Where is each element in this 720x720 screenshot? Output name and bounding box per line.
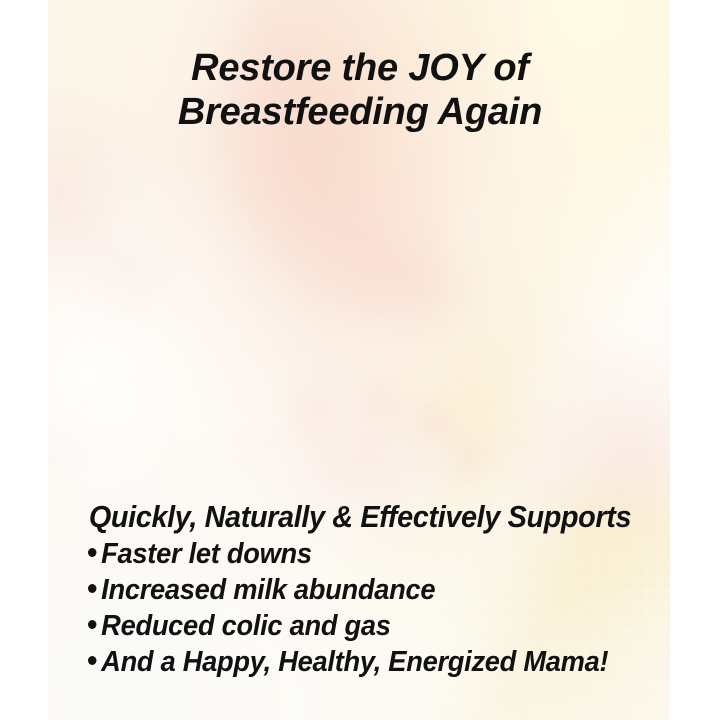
headline: Restore the JOY of Breastfeeding Again bbox=[0, 46, 720, 134]
benefit-item-label: Reduced colic and gas bbox=[101, 610, 390, 642]
benefit-item-label: Faster let downs bbox=[101, 538, 312, 570]
benefits-block: Quickly, Naturally & Effectively Support… bbox=[0, 498, 720, 680]
bullet-icon bbox=[88, 584, 96, 593]
bullet-icon bbox=[88, 656, 96, 665]
benefit-item: Reduced colic and gas bbox=[88, 608, 682, 644]
benefits-list: Faster let downs Increased milk abundanc… bbox=[0, 536, 720, 680]
promo-poster: Restore the JOY of Breastfeeding Again Q… bbox=[0, 0, 720, 720]
bullet-icon bbox=[88, 620, 96, 629]
bullet-icon bbox=[88, 548, 96, 557]
benefit-item-label: And a Happy, Healthy, Energized Mama! bbox=[101, 646, 608, 678]
benefit-item: Faster let downs bbox=[88, 536, 682, 572]
benefit-item: Increased milk abundance bbox=[88, 572, 682, 608]
benefit-item-label: Increased milk abundance bbox=[101, 574, 435, 606]
benefit-item: And a Happy, Healthy, Energized Mama! bbox=[88, 644, 682, 680]
benefits-lead-text: Quickly, Naturally & Effectively Support… bbox=[25, 498, 695, 536]
